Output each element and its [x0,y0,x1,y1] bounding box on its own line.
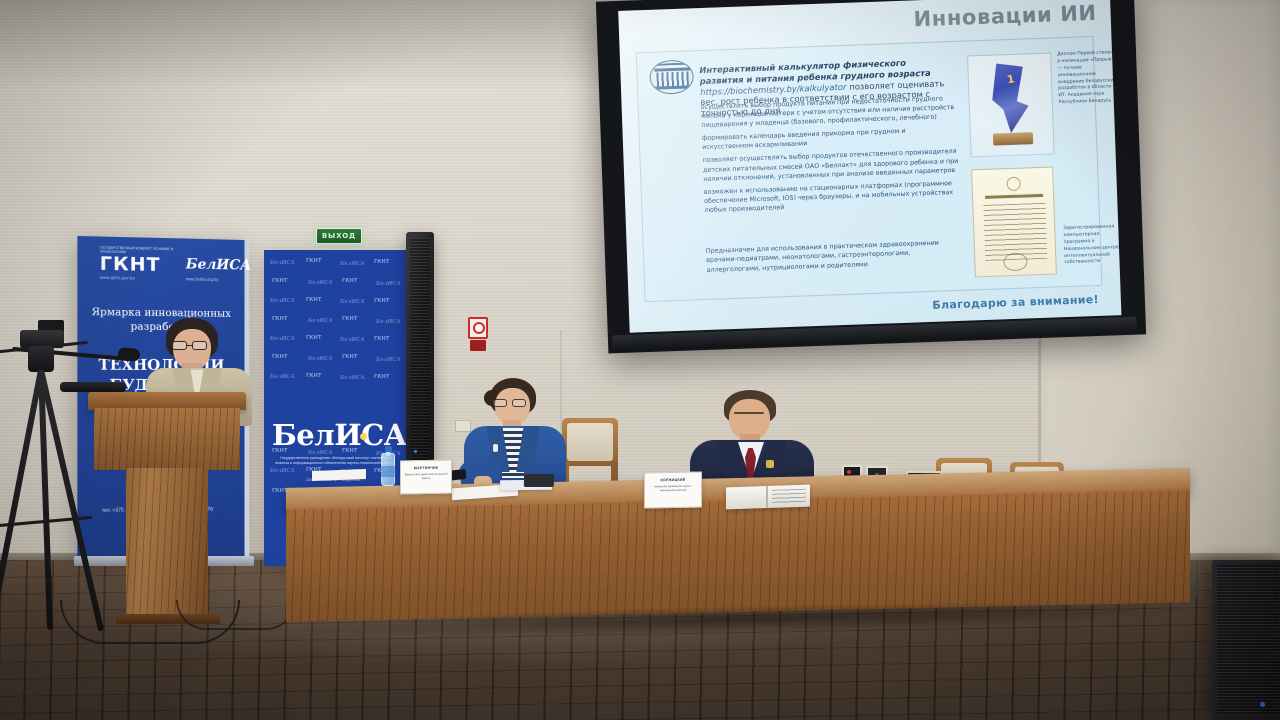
projection-screen: Инновации ИИ Интерактивный калькулятор ф… [596,0,1146,354]
water-bottle [381,444,395,486]
pattern-label: БелИСА [270,298,295,304]
trophy-photo: 1 [967,52,1055,157]
pattern-label: ГКНТ [306,258,321,264]
pattern-label: БелИСА [376,357,401,363]
belisa-logo-dot-icon [360,433,367,440]
podium-stem [126,468,208,618]
fire-alarm-icon [468,317,488,339]
pattern-label: ГКНТ [374,259,389,265]
floor-cable [176,600,296,630]
exit-sign: ВЫХОД [316,228,362,244]
belisa-logo-suffix: ИСА [334,418,406,452]
pattern-label: ГКНТ [342,354,357,360]
speaker-grille [410,238,430,464]
floor-loudspeaker [1212,560,1280,720]
nameplate-left: МАРТИНЧИК Заместитель директора по научн… [400,460,452,495]
nameplate-role: Заместитель директора по научной работе [403,473,449,481]
belisa-url: www.belisa.org.by [186,276,218,282]
slide-bullet-list: осуществлять выбор продукта питания при … [701,94,961,219]
speaker-grille [1217,565,1279,715]
pattern-label: БелИСА [376,319,401,325]
fire-alarm-bell-icon [473,322,485,334]
belisa-logo-small: БелИСА [186,257,251,274]
pattern-label: БелИСА [270,468,295,474]
belisa-logo: БелИСА [272,418,398,452]
gknt-logo: ГКНТ [100,253,161,276]
column-speaker [406,232,434,470]
pattern-label: БелИСА [270,260,295,266]
camera-tripod [0,330,114,630]
pattern-label: БелИСА [270,374,295,380]
exit-sign-label: ВЫХОД [322,232,356,240]
certificate-seal-icon [1006,177,1020,191]
pattern-label: ГКНТ [306,297,321,303]
pattern-label: ГКНТ [272,316,287,322]
trophy-caption: Диплом Первой степени в номинации «Проры… [1057,50,1119,107]
pattern-label: ГКНТ [374,298,389,304]
certificate-photo [971,166,1057,277]
tripod-collar [28,346,54,372]
certificate-title-bar [985,194,1043,199]
presenter-glasses-icon [172,341,212,350]
pattern-label: ГКНТ [306,373,321,379]
slide-bullet: возможен к использованию на стационарных… [704,179,961,215]
lapel-pin [493,444,498,452]
trophy-base [993,132,1033,145]
microphone-head-icon [117,347,140,362]
academy-emblem-icon [649,59,694,95]
podium-face [94,408,240,470]
pattern-label: БелИСА [340,261,365,267]
papers-stack [312,469,366,481]
tablet-device[interactable] [524,474,554,487]
panelist-glasses-icon [493,399,531,407]
pattern-label: БелИСА [340,375,365,381]
open-binder [726,485,810,510]
pattern-label: ГКНТ [374,374,389,380]
presentation-slide: Инновации ИИ Интерактивный калькулятор ф… [618,0,1121,333]
certificate-caption: Зарегистрированная компьютерная программ… [1063,224,1121,268]
conference-hall-photo: Инновации ИИ Интерактивный калькулятор ф… [0,0,1280,720]
belisa-logo-prefix: Бел [272,418,334,452]
slide-footer-paragraph: Предназначен для использования в практич… [706,238,957,275]
pattern-label: БелИСА [340,337,365,343]
pattern-label: БелИСА [376,281,401,287]
pattern-label: ГКНТ [272,354,287,360]
belisa-subtitle: Государственное учреждение «Белорусский … [274,456,396,467]
gknt-url: www.gknt.gov.by [100,275,135,281]
lapel-pin [766,460,774,468]
nameplate-name: МАРТИНЧИК [401,466,451,471]
pattern-label: БелИСА [308,318,333,324]
fire-alarm-pull-station[interactable] [470,340,486,351]
nameplate-name: КОРЖИЦКИЙ [645,478,701,483]
speaker-power-led [1260,702,1265,707]
pattern-label: БелИСА [340,299,365,305]
speaker-power-led [414,450,417,453]
slide-thanks-text: Благодарю за внимание! [932,293,1099,312]
tripod-leg [0,369,44,633]
pattern-label: ГКНТ [342,316,357,322]
pattern-label: ГКНТ [306,335,321,341]
slide-title: Инновации ИИ [913,1,1097,32]
pattern-label: БелИСА [308,356,333,362]
nameplate-right: КОРЖИЦКИЙ Начальник управления научно-те… [644,471,702,508]
nameplate-role: Начальник управления научно-технической … [647,485,699,493]
certificate-stamp-icon [1003,252,1028,271]
pattern-label: ГКНТ [272,278,287,284]
pattern-label: БелИСА [270,336,295,342]
slide-content-box: Интерактивный калькулятор физического ра… [636,36,1103,302]
pattern-label: БелИСА [308,280,333,286]
slide-bullet: позволяет осуществлять выбор продуктов о… [702,147,959,183]
pattern-label: ГКНТ [374,336,389,342]
pattern-label: ГКНТ [342,278,357,284]
